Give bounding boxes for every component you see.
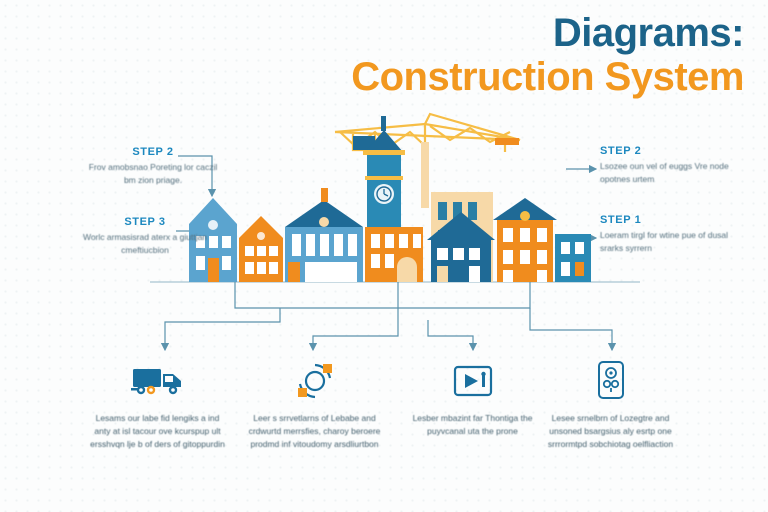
- orange-townhouse: [239, 216, 283, 282]
- crane-mast: [421, 142, 429, 208]
- step-label-right-1: STEP 2 Lsozee oun vel of euggs Vre node …: [600, 145, 730, 186]
- feature-caption: Lesams our labe fid lengiks a ind anty a…: [75, 412, 240, 452]
- right-orange-building: [493, 198, 557, 282]
- step-body: Lsozee oun vel of euggs Vre node opotnes…: [600, 160, 730, 186]
- step-kicker: STEP 1: [600, 214, 730, 226]
- page-title: Diagrams: Construction System: [274, 12, 744, 100]
- connector-feature-3: [428, 320, 473, 350]
- infographic-poster: Diagrams: Construction System: [0, 0, 768, 512]
- feature-item: Leer s srrvetlarns of Lebabe and crdwurt…: [232, 358, 397, 452]
- far-right-blue-building: [555, 234, 591, 282]
- step-kicker: STEP 3: [80, 216, 210, 228]
- feature-item: Lesams our labe fid lengiks a ind anty a…: [75, 358, 240, 452]
- device-monitor-icon: [528, 358, 693, 404]
- feature-caption: Leer s srrvetlarns of Lebabe and crdwurt…: [232, 412, 397, 452]
- crane-hook-load: [495, 138, 519, 145]
- title-line-secondary: Construction System: [274, 54, 744, 100]
- blue-civic-building: [285, 188, 363, 282]
- title-line-primary: Diagrams:: [274, 12, 744, 54]
- orbit-rings-icon: [232, 358, 397, 404]
- feature-caption: Lesee srnelbrn of Lozegtre and unsoned b…: [528, 412, 693, 452]
- step-label-left-1: STEP 2 Frov amobsnao Poreting lor caczil…: [88, 146, 218, 187]
- step-body: Worlc armasisrad aterx a giuttjan cmefti…: [80, 231, 210, 257]
- step-label-right-2: STEP 1 Loeram tirgl for wtine pue of dus…: [600, 214, 730, 255]
- step-body: Loeram tirgl for wtine pue of dusal srar…: [600, 229, 730, 255]
- connector-feature-4: [530, 308, 612, 350]
- orange-apartment-block: [365, 227, 423, 282]
- feature-item: Lesee srnelbrn of Lozegtre and unsoned b…: [528, 358, 693, 452]
- connector-feature-1: [165, 308, 280, 350]
- truck-icon: [75, 358, 240, 404]
- step-label-left-2: STEP 3 Worlc armasisrad aterx a giuttjan…: [80, 216, 210, 257]
- step-body: Frov amobsnao Poreting lor caczil bm zio…: [88, 161, 218, 187]
- construction-cityscape-illustration: [175, 112, 595, 287]
- step-kicker: STEP 2: [88, 146, 218, 158]
- step-kicker: STEP 2: [600, 145, 730, 157]
- connector-feature-2: [313, 308, 398, 350]
